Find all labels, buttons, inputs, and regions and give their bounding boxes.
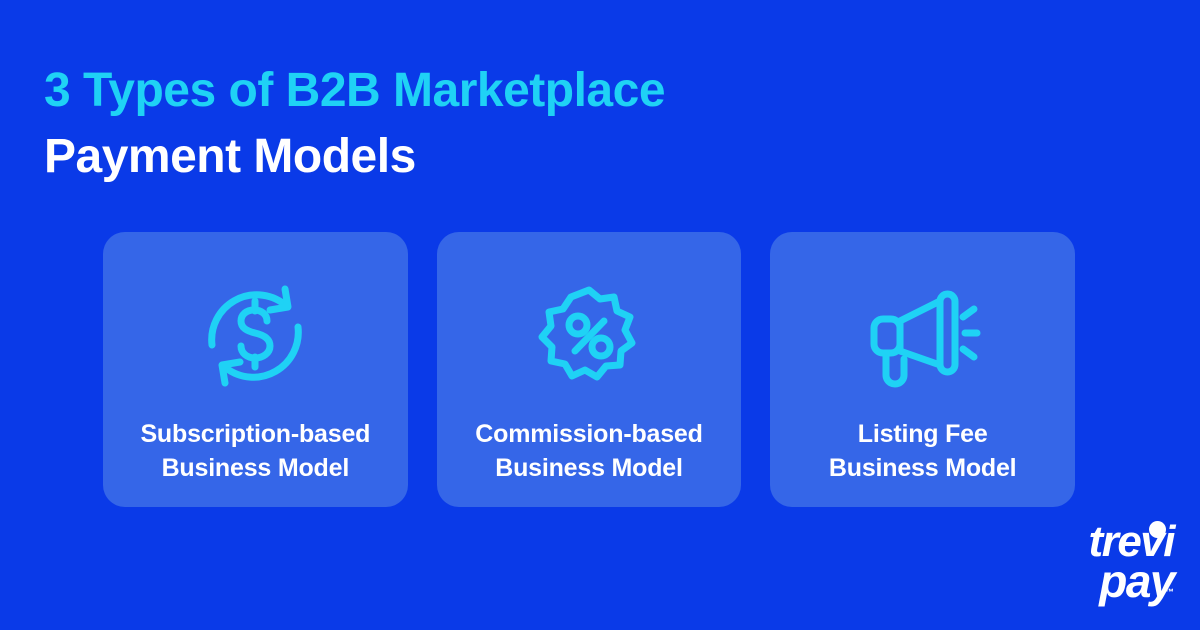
trevipay-logo: trevi pay ™ [1024, 522, 1174, 598]
page-title: 3 Types of B2B Marketplace Payment Model… [44, 58, 944, 190]
megaphone-icon [864, 277, 982, 395]
logo-dot-icon [1149, 521, 1166, 538]
card-listing-fee: Listing Fee Business Model [770, 232, 1075, 507]
trademark-symbol: ™ [1165, 587, 1174, 597]
card-label: Subscription-based Business Model [103, 417, 408, 485]
percent-badge-icon [530, 277, 648, 395]
card-label-line-2: Business Model [770, 451, 1075, 485]
infographic-canvas: 3 Types of B2B Marketplace Payment Model… [0, 0, 1200, 630]
card-subscription-based: Subscription-based Business Model [103, 232, 408, 507]
card-label: Listing Fee Business Model [770, 417, 1075, 485]
logo-text-pay: pay [1024, 560, 1174, 602]
card-label: Commission-based Business Model [437, 417, 742, 485]
card-label-line-1: Commission-based [437, 417, 742, 451]
page-title-line-2: Payment Models [44, 124, 944, 190]
card-label-line-1: Subscription-based [103, 417, 408, 451]
card-row: Subscription-based Business Model Commis… [103, 232, 1075, 507]
recurring-dollar-icon [196, 277, 314, 395]
card-label-line-2: Business Model [103, 451, 408, 485]
card-label-line-1: Listing Fee [770, 417, 1075, 451]
page-title-line-1: 3 Types of B2B Marketplace [44, 58, 944, 124]
card-label-line-2: Business Model [437, 451, 742, 485]
card-commission-based: Commission-based Business Model [437, 232, 742, 507]
